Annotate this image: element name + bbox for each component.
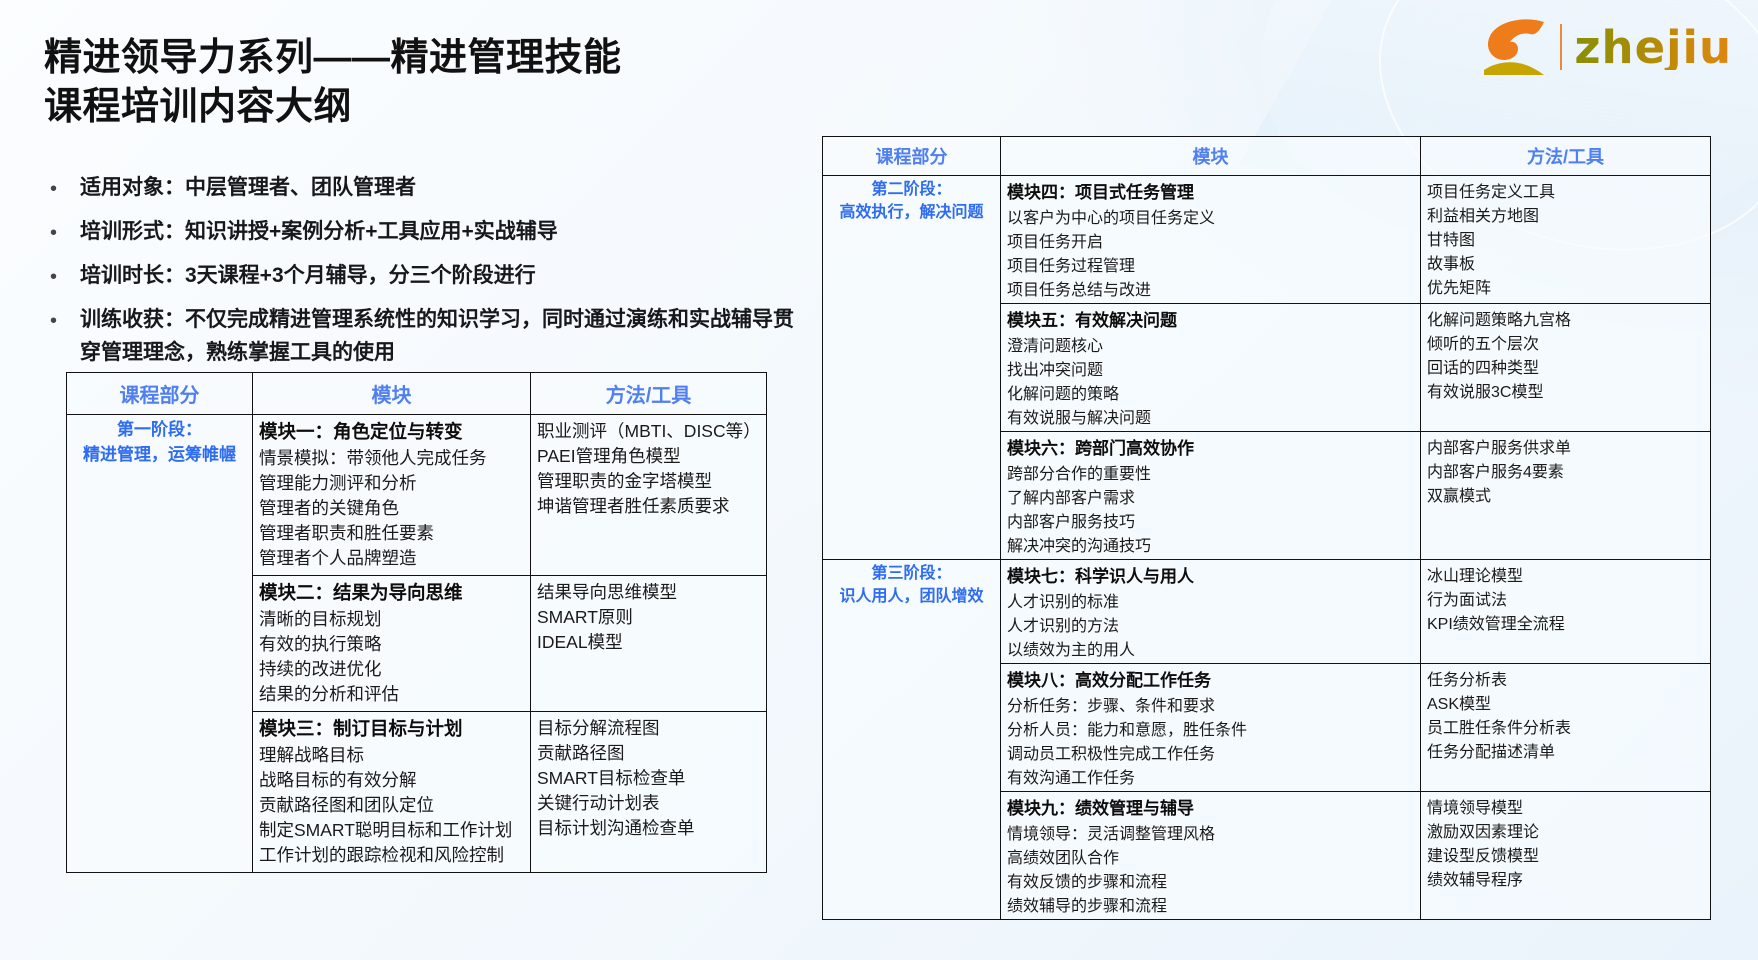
module-title: 模块六：跨部门高效协作 <box>1007 434 1414 460</box>
module-topic-line: 有效沟通工作任务 <box>1007 764 1414 788</box>
module-topic-line: 管理者职责和胜任要素 <box>259 520 524 545</box>
tool-line: KPI绩效管理全流程 <box>1427 610 1704 634</box>
module-topic-line: 情境领导：灵活调整管理风格 <box>1007 820 1414 844</box>
module-topic-line: 有效的执行策略 <box>259 631 524 656</box>
tool-line: 倾听的五个层次 <box>1427 330 1704 354</box>
bullet-marker-icon: • <box>44 172 80 206</box>
bullet-text: 适用对象：中层管理者、团队管理者 <box>80 172 416 205</box>
stage-one-table: 课程部分 模块 方法/工具 第一阶段：精进管理，运筹帷幄模块一：角色定位与转变情… <box>66 372 767 873</box>
module-cell: 模块八：高效分配工作任务分析任务：步骤、条件和要求分析人员：能力和意愿，胜任条件… <box>1001 664 1421 792</box>
module-topic-line: 管理者的关键角色 <box>259 495 524 520</box>
tools-cell: 任务分析表ASK模型员工胜任条件分析表任务分配描述清单 <box>1421 664 1711 792</box>
module-topic-line: 管理者个人品牌塑造 <box>259 545 524 570</box>
tool-line: 职业测评（MBTI、DISC等） <box>537 418 760 443</box>
eagle-swoosh-logo-icon <box>1482 18 1548 76</box>
tools-cell: 冰山理论模型行为面试法KPI绩效管理全流程 <box>1421 560 1711 664</box>
module-cell: 模块一：角色定位与转变情景模拟：带领他人完成任务管理能力测评和分析管理者的关键角… <box>253 415 531 576</box>
tools-cell: 职业测评（MBTI、DISC等）PAEI管理角色模型管理职责的金字塔模型坤谐管理… <box>531 415 767 576</box>
stage-label-line-1: 第二阶段： <box>829 178 994 201</box>
bullet-item: •培训时长：3天课程+3个月辅导，分三个阶段进行 <box>44 260 804 294</box>
module-topic-line: 化解问题的策略 <box>1007 380 1414 404</box>
tool-line: PAEI管理角色模型 <box>537 443 760 468</box>
module-topic-line: 结果的分析和评估 <box>259 681 524 706</box>
tools-cell: 内部客户服务供求单内部客户服务4要素双赢模式 <box>1421 432 1711 560</box>
tool-line: SMART目标检查单 <box>537 765 760 790</box>
module-topic-line: 清晰的目标规划 <box>259 606 524 631</box>
overview-bullet-list: •适用对象：中层管理者、团队管理者•培训形式：知识讲授+案例分析+工具应用+实战… <box>44 172 804 379</box>
bullet-text: 训练收获：不仅完成精进管理系统性的知识学习，同时通过演练和实战辅导贯穿管理理念，… <box>80 304 804 369</box>
bullet-marker-icon: • <box>44 216 80 250</box>
bullet-marker-icon: • <box>44 304 80 338</box>
header-method-tool: 方法/工具 <box>1421 137 1711 176</box>
brand-logo: zhejiu <box>1482 18 1732 76</box>
module-topic-line: 内部客户服务技巧 <box>1007 508 1414 532</box>
module-topic-line: 有效说服与解决问题 <box>1007 404 1414 428</box>
tool-line: IDEAL模型 <box>537 629 760 654</box>
tool-line: 项目任务定义工具 <box>1427 178 1704 202</box>
tools-cell: 项目任务定义工具利益相关方地图甘特图故事板优先矩阵 <box>1421 176 1711 304</box>
header-method-tool: 方法/工具 <box>531 373 767 415</box>
module-topic-line: 人才识别的方法 <box>1007 612 1414 636</box>
module-topic-line: 解决冲突的沟通技巧 <box>1007 532 1414 556</box>
bullet-item: •适用对象：中层管理者、团队管理者 <box>44 172 804 206</box>
module-topic-line: 制定SMART聪明目标和工作计划 <box>259 817 524 842</box>
tool-line: 双赢模式 <box>1427 482 1704 506</box>
header-module: 模块 <box>1001 137 1421 176</box>
logo-divider <box>1560 24 1562 70</box>
table-header-row: 课程部分 模块 方法/工具 <box>823 137 1711 176</box>
stage-label-line-1: 第三阶段： <box>829 562 994 585</box>
bullet-item: •培训形式：知识讲授+案例分析+工具应用+实战辅导 <box>44 216 804 250</box>
module-title: 模块七：科学识人与用人 <box>1007 562 1414 588</box>
header-course-part: 课程部分 <box>67 373 253 415</box>
module-title: 模块八：高效分配工作任务 <box>1007 666 1414 692</box>
module-title: 模块四：项目式任务管理 <box>1007 178 1414 204</box>
bullet-text: 培训形式：知识讲授+案例分析+工具应用+实战辅导 <box>80 216 558 249</box>
module-topic-line: 战略目标的有效分解 <box>259 767 524 792</box>
module-topic-line: 贡献路径图和团队定位 <box>259 792 524 817</box>
module-topic-line: 调动员工积极性完成工作任务 <box>1007 740 1414 764</box>
tool-line: 甘特图 <box>1427 226 1704 250</box>
module-topic-line: 绩效辅导的步骤和流程 <box>1007 892 1414 916</box>
tool-line: 目标计划沟通检查单 <box>537 815 760 840</box>
module-topic-line: 澄清问题核心 <box>1007 332 1414 356</box>
module-topic-line: 有效反馈的步骤和流程 <box>1007 868 1414 892</box>
tools-cell: 目标分解流程图贡献路径图SMART目标检查单关键行动计划表目标计划沟通检查单 <box>531 712 767 873</box>
table-row: 第一阶段：精进管理，运筹帷幄模块一：角色定位与转变情景模拟：带领他人完成任务管理… <box>67 415 767 576</box>
bullet-item: •训练收获：不仅完成精进管理系统性的知识学习，同时通过演练和实战辅导贯穿管理理念… <box>44 304 804 369</box>
tool-line: 行为面试法 <box>1427 586 1704 610</box>
tool-line: 坤谐管理者胜任素质要求 <box>537 493 760 518</box>
tool-line: 任务分析表 <box>1427 666 1704 690</box>
module-topic-line: 了解内部客户需求 <box>1007 484 1414 508</box>
module-topic-line: 项目任务开启 <box>1007 228 1414 252</box>
tool-line: 内部客户服务供求单 <box>1427 434 1704 458</box>
tool-line: 利益相关方地图 <box>1427 202 1704 226</box>
tool-line: 员工胜任条件分析表 <box>1427 714 1704 738</box>
module-topic-line: 分析人员：能力和意愿，胜任条件 <box>1007 716 1414 740</box>
stage-label-cell: 第二阶段：高效执行，解决问题 <box>823 176 1001 560</box>
module-title: 模块一：角色定位与转变 <box>259 418 524 445</box>
tool-line: 任务分配描述清单 <box>1427 738 1704 762</box>
tool-line: 故事板 <box>1427 250 1704 274</box>
module-topic-line: 人才识别的标准 <box>1007 588 1414 612</box>
module-topic-line: 跨部分合作的重要性 <box>1007 460 1414 484</box>
stage-label-cell: 第一阶段：精进管理，运筹帷幄 <box>67 415 253 873</box>
module-topic-line: 项目任务过程管理 <box>1007 252 1414 276</box>
module-topic-line: 找出冲突问题 <box>1007 356 1414 380</box>
tool-line: 绩效辅导程序 <box>1427 866 1704 890</box>
module-cell: 模块六：跨部门高效协作跨部分合作的重要性了解内部客户需求内部客户服务技巧解决冲突… <box>1001 432 1421 560</box>
module-topic-line: 分析任务：步骤、条件和要求 <box>1007 692 1414 716</box>
module-topic-line: 管理能力测评和分析 <box>259 470 524 495</box>
module-topic-line: 情景模拟：带领他人完成任务 <box>259 445 524 470</box>
module-cell: 模块七：科学识人与用人人才识别的标准人才识别的方法以绩效为主的用人 <box>1001 560 1421 664</box>
tool-line: SMART原则 <box>537 604 760 629</box>
bullet-text: 培训时长：3天课程+3个月辅导，分三个阶段进行 <box>80 260 536 293</box>
module-topic-line: 以客户为中心的项目任务定义 <box>1007 204 1414 228</box>
tool-line: 管理职责的金字塔模型 <box>537 468 760 493</box>
module-topic-line: 高绩效团队合作 <box>1007 844 1414 868</box>
tools-cell: 化解问题策略九宫格倾听的五个层次回话的四种类型有效说服3C模型 <box>1421 304 1711 432</box>
tool-line: 回话的四种类型 <box>1427 354 1704 378</box>
module-title: 模块五：有效解决问题 <box>1007 306 1414 332</box>
stage-label-line-2: 识人用人，团队增效 <box>829 585 994 608</box>
tool-line: 情境领导模型 <box>1427 794 1704 818</box>
stage-label-line-2: 高效执行，解决问题 <box>829 201 994 224</box>
module-topic-line: 工作计划的跟踪检视和风险控制 <box>259 842 524 867</box>
table-header-row: 课程部分 模块 方法/工具 <box>67 373 767 415</box>
stage-two-three-table: 课程部分 模块 方法/工具 第二阶段：高效执行，解决问题模块四：项目式任务管理以… <box>822 136 1711 920</box>
logo-wordmark: zhejiu <box>1574 25 1732 70</box>
module-title: 模块九：绩效管理与辅导 <box>1007 794 1414 820</box>
tool-line: 结果导向思维模型 <box>537 579 760 604</box>
module-topic-line: 理解战略目标 <box>259 742 524 767</box>
module-topic-line: 项目任务总结与改进 <box>1007 276 1414 300</box>
tool-line: 化解问题策略九宫格 <box>1427 306 1704 330</box>
tool-line: 内部客户服务4要素 <box>1427 458 1704 482</box>
module-title: 模块三：制订目标与计划 <box>259 715 524 742</box>
stage-label-line-2: 精进管理，运筹帷幄 <box>73 443 246 468</box>
tool-line: 优先矩阵 <box>1427 274 1704 298</box>
page-title: 精进领导力系列——精进管理技能 课程培训内容大纲 <box>44 34 622 131</box>
stage-label-line-1: 第一阶段： <box>73 418 246 443</box>
bullet-marker-icon: • <box>44 260 80 294</box>
tool-line: 目标分解流程图 <box>537 715 760 740</box>
module-topic-line: 以绩效为主的用人 <box>1007 636 1414 660</box>
table-row: 第二阶段：高效执行，解决问题模块四：项目式任务管理以客户为中心的项目任务定义项目… <box>823 176 1711 304</box>
module-cell: 模块九：绩效管理与辅导情境领导：灵活调整管理风格高绩效团队合作有效反馈的步骤和流… <box>1001 792 1421 920</box>
tool-line: 冰山理论模型 <box>1427 562 1704 586</box>
title-line-2: 课程培训内容大纲 <box>44 83 622 132</box>
tool-line: 关键行动计划表 <box>537 790 760 815</box>
tool-line: 有效说服3C模型 <box>1427 378 1704 402</box>
tool-line: ASK模型 <box>1427 690 1704 714</box>
module-cell: 模块五：有效解决问题澄清问题核心找出冲突问题化解问题的策略有效说服与解决问题 <box>1001 304 1421 432</box>
tool-line: 建设型反馈模型 <box>1427 842 1704 866</box>
title-line-1: 精进领导力系列——精进管理技能 <box>44 34 622 83</box>
tool-line: 贡献路径图 <box>537 740 760 765</box>
tools-cell: 情境领导模型激励双因素理论建设型反馈模型绩效辅导程序 <box>1421 792 1711 920</box>
tool-line: 激励双因素理论 <box>1427 818 1704 842</box>
module-title: 模块二：结果为导向思维 <box>259 579 524 606</box>
module-cell: 模块四：项目式任务管理以客户为中心的项目任务定义项目任务开启项目任务过程管理项目… <box>1001 176 1421 304</box>
stage-label-cell: 第三阶段：识人用人，团队增效 <box>823 560 1001 920</box>
table-row: 第三阶段：识人用人，团队增效模块七：科学识人与用人人才识别的标准人才识别的方法以… <box>823 560 1711 664</box>
tools-cell: 结果导向思维模型SMART原则IDEAL模型 <box>531 576 767 712</box>
module-cell: 模块三：制订目标与计划理解战略目标战略目标的有效分解贡献路径图和团队定位制定SM… <box>253 712 531 873</box>
module-cell: 模块二：结果为导向思维清晰的目标规划有效的执行策略持续的改进优化结果的分析和评估 <box>253 576 531 712</box>
header-course-part: 课程部分 <box>823 137 1001 176</box>
module-topic-line: 持续的改进优化 <box>259 656 524 681</box>
header-module: 模块 <box>253 373 531 415</box>
